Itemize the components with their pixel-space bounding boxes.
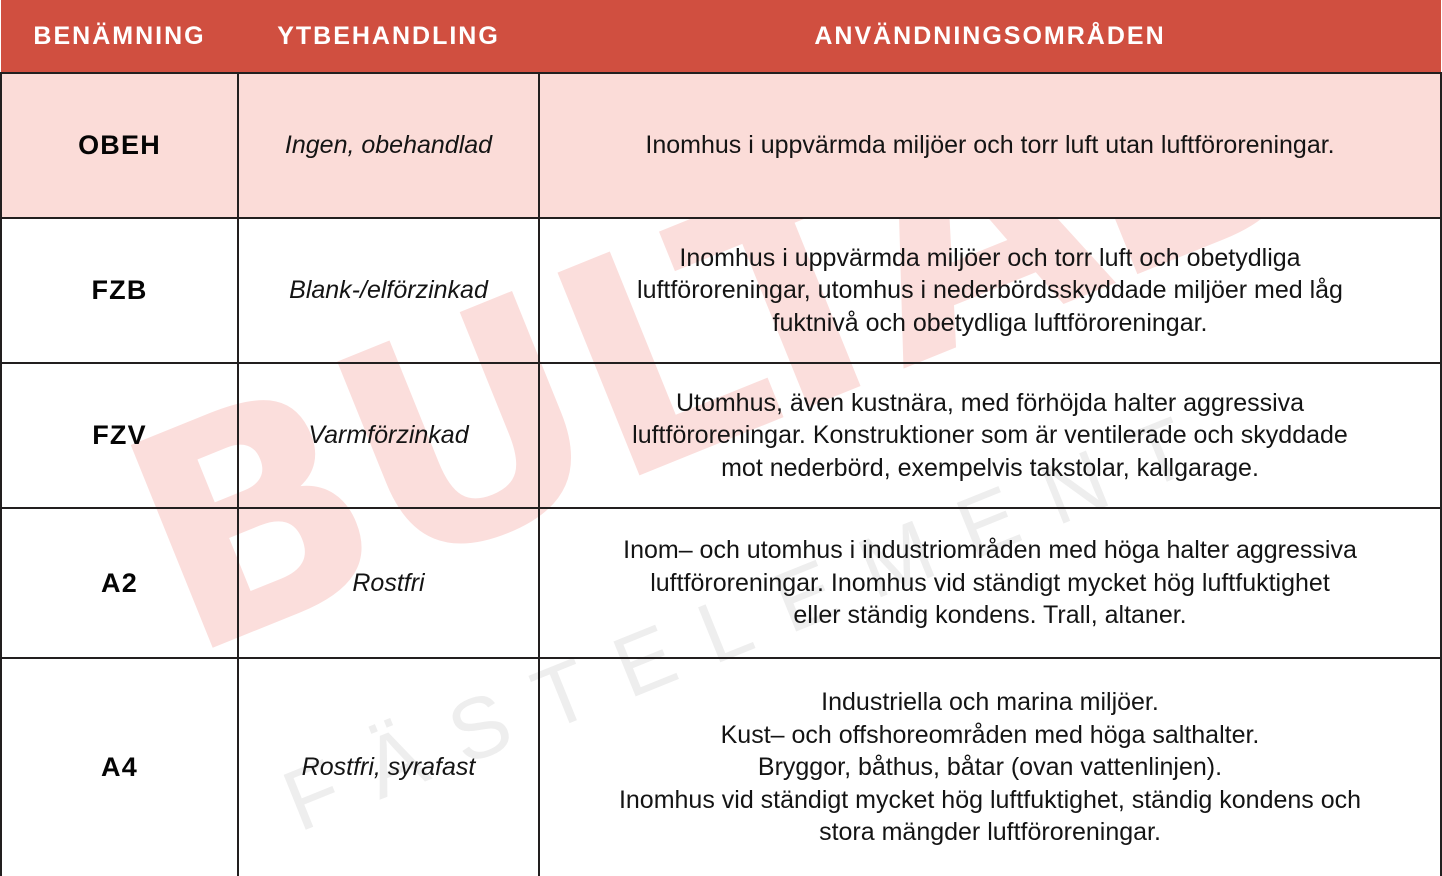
- usage-line: mot nederbörd, exempelvis takstolar, kal…: [566, 452, 1414, 485]
- cell-usage-areas: Inom– och utomhus i industriområden med …: [539, 508, 1441, 658]
- column-header-ytbehandling: YTBEHANDLING: [238, 0, 539, 73]
- table-row: A4 Rostfri, syrafast Industriella och ma…: [1, 658, 1441, 876]
- page-root: BULTAB FÄSTELEMENT BENÄMNING YTBEHANDLIN…: [0, 0, 1442, 876]
- usage-line: Inomhus i uppvärmda miljöer och torr luf…: [566, 242, 1414, 275]
- surface-treatment-table-container: BENÄMNING YTBEHANDLING ANVÄNDNINGSOMRÅDE…: [0, 0, 1442, 876]
- column-header-anvandningsomraden: ANVÄNDNINGSOMRÅDEN: [539, 0, 1441, 73]
- cell-code: A4: [1, 658, 238, 876]
- usage-line: luftföroreningar, utomhus i nederbördssk…: [566, 274, 1414, 307]
- cell-surface-treatment: Varmförzinkad: [238, 363, 539, 508]
- usage-line: luftföroreningar. Konstruktioner som är …: [566, 419, 1414, 452]
- usage-line: eller ständig kondens. Trall, altaner.: [566, 599, 1414, 632]
- cell-code: A2: [1, 508, 238, 658]
- cell-usage-areas: Industriella och marina miljöer. Kust– o…: [539, 658, 1441, 876]
- cell-surface-treatment: Blank-/elförzinkad: [238, 218, 539, 363]
- usage-line: Inomhus i uppvärmda miljöer och torr luf…: [566, 129, 1414, 162]
- usage-line: Utomhus, även kustnära, med förhöjda hal…: [566, 387, 1414, 420]
- table-row: A2 Rostfri Inom– och utomhus i industrio…: [1, 508, 1441, 658]
- cell-code: OBEH: [1, 73, 238, 218]
- usage-line: Kust– och offshoreområden med höga salth…: [566, 719, 1414, 752]
- table-head: BENÄMNING YTBEHANDLING ANVÄNDNINGSOMRÅDE…: [1, 0, 1441, 73]
- cell-usage-areas: Inomhus i uppvärmda miljöer och torr luf…: [539, 218, 1441, 363]
- cell-code: FZV: [1, 363, 238, 508]
- table-row: FZB Blank-/elförzinkad Inomhus i uppvärm…: [1, 218, 1441, 363]
- cell-surface-treatment: Rostfri: [238, 508, 539, 658]
- table-row: FZV Varmförzinkad Utomhus, även kustnära…: [1, 363, 1441, 508]
- usage-line: stora mängder luftföroreningar.: [566, 816, 1414, 849]
- surface-treatment-table: BENÄMNING YTBEHANDLING ANVÄNDNINGSOMRÅDE…: [0, 0, 1442, 876]
- usage-line: luftföroreningar. Inomhus vid ständigt m…: [566, 567, 1414, 600]
- column-header-benamning: BENÄMNING: [1, 0, 238, 73]
- usage-line: Industriella och marina miljöer.: [566, 686, 1414, 719]
- cell-usage-areas: Utomhus, även kustnära, med förhöjda hal…: [539, 363, 1441, 508]
- usage-line: fuktnivå och obetydliga luftföroreningar…: [566, 307, 1414, 340]
- cell-code: FZB: [1, 218, 238, 363]
- usage-line: Bryggor, båthus, båtar (ovan vattenlinje…: [566, 751, 1414, 784]
- table-header-row: BENÄMNING YTBEHANDLING ANVÄNDNINGSOMRÅDE…: [1, 0, 1441, 73]
- cell-usage-areas: Inomhus i uppvärmda miljöer och torr luf…: [539, 73, 1441, 218]
- cell-surface-treatment: Rostfri, syrafast: [238, 658, 539, 876]
- usage-line: Inom– och utomhus i industriområden med …: [566, 534, 1414, 567]
- cell-surface-treatment: Ingen, obehandlad: [238, 73, 539, 218]
- usage-line: Inomhus vid ständigt mycket hög luftfukt…: [566, 784, 1414, 817]
- table-row: OBEH Ingen, obehandlad Inomhus i uppvärm…: [1, 73, 1441, 218]
- table-body: OBEH Ingen, obehandlad Inomhus i uppvärm…: [1, 73, 1441, 876]
